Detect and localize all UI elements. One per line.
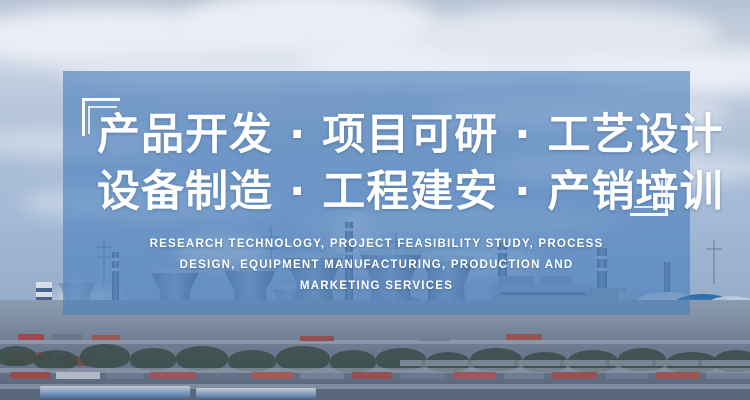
rail-car [352,372,392,379]
rail-car [300,373,344,379]
rail-car [10,372,50,379]
subtitle: RESEARCH TECHNOLOGY, PROJECT FEASIBILITY… [63,234,690,297]
headline: 产品开发 · 项目可研 · 工艺设计 设备制造 · 工程建安 · 产销培训 [97,107,657,221]
rail-car [18,334,44,340]
rail-car [252,372,294,379]
power-pylon [706,240,722,284]
rail-car [656,372,700,379]
rail-car [706,373,750,379]
subtitle-line-3: MARKETING SERVICES [63,276,690,297]
rail-car [106,373,144,379]
subtitle-line-2: DESIGN, EQUIPMENT MANUFACTURING, PRODUCT… [63,255,690,276]
passenger-train [196,388,316,398]
rail-car [204,373,244,379]
rail-car [52,334,82,340]
headline-line-1: 产品开发 · 项目可研 · 工艺设计 [97,107,657,164]
viaduct [400,360,750,366]
rail-car [552,372,598,379]
rail-car [506,334,542,340]
rail-car [606,373,648,379]
subtitle-line-1: RESEARCH TECHNOLOGY, PROJECT FEASIBILITY… [63,234,690,255]
rail-car [92,335,120,340]
headline-line-2: 设备制造 · 工程建安 · 产销培训 [97,164,657,221]
rail-car [150,372,196,379]
rail-car [56,372,100,379]
promotional-banner: 产品开发 · 项目可研 · 工艺设计 设备制造 · 工程建安 · 产销培训 RE… [0,0,750,400]
passenger-train [40,386,190,398]
rail-car [400,373,446,379]
rail-car [504,373,544,379]
rail-car [420,336,450,341]
rail-car [300,336,334,341]
rail-car [454,372,496,379]
